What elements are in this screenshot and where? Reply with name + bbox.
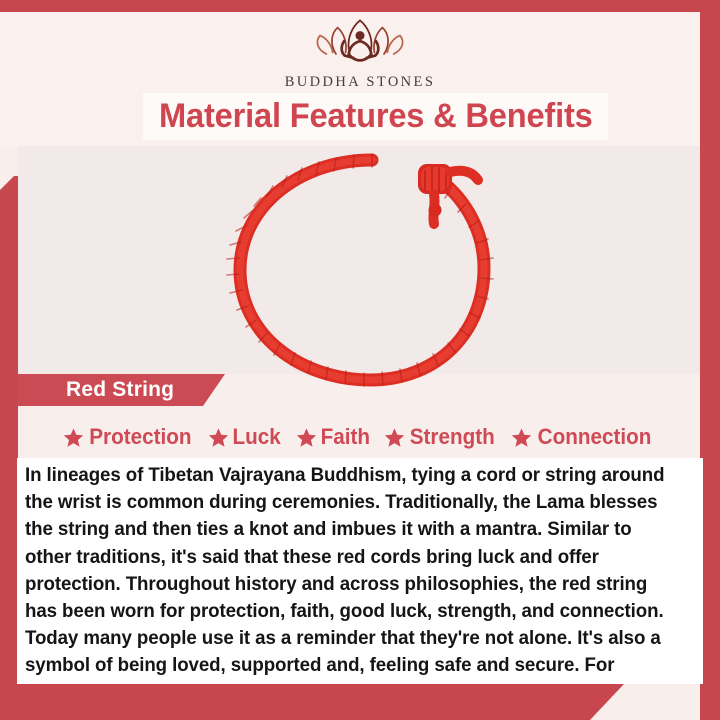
lotus-meditation-icon xyxy=(312,14,408,70)
benefit-item: Strength xyxy=(379,424,502,450)
star-icon xyxy=(384,427,405,448)
page-title: Material Features & Benefits xyxy=(159,97,593,136)
benefit-label: Connection xyxy=(537,424,651,450)
infographic-page: BUDDHA STONES Material Features & Benefi… xyxy=(0,0,720,720)
benefit-item: Connection xyxy=(506,424,660,450)
benefit-item: Luck xyxy=(203,424,287,450)
benefit-label: Protection xyxy=(90,424,192,450)
benefit-label: Luck xyxy=(233,424,281,450)
star-icon xyxy=(296,427,317,448)
page-title-band: Material Features & Benefits xyxy=(143,93,608,140)
description-text: In lineages of Tibetan Vajrayana Buddhis… xyxy=(25,462,666,707)
benefit-item: Protection xyxy=(58,424,200,450)
benefit-label: Strength xyxy=(410,424,495,450)
benefit-item: Faith xyxy=(291,424,377,450)
brand-name: BUDDHA STONES xyxy=(285,74,436,91)
description-card: In lineages of Tibetan Vajrayana Buddhis… xyxy=(17,458,703,684)
top-accent-bar xyxy=(0,0,720,12)
left-accent-bar xyxy=(0,176,18,720)
product-name-ribbon: Red String xyxy=(18,374,225,406)
star-icon xyxy=(63,427,84,448)
benefit-label: Faith xyxy=(320,424,369,450)
benefits-row: Protection Luck Faith Strength Connectio… xyxy=(18,418,700,456)
brand-logo: BUDDHA STONES xyxy=(0,14,720,91)
star-icon xyxy=(511,427,532,448)
red-braided-string-bracelet-image xyxy=(222,150,510,390)
product-name-label: Red String xyxy=(66,378,174,402)
right-accent-bar xyxy=(700,0,720,720)
star-icon xyxy=(208,427,229,448)
